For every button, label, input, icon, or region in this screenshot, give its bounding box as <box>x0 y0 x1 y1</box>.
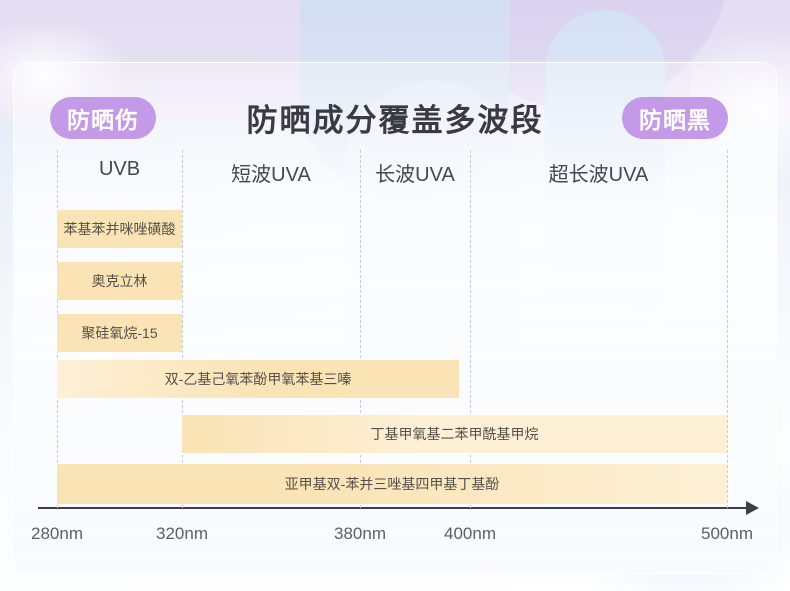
band-header-label: 长波UVA <box>375 164 455 186</box>
ingredient-bar: 丁基甲氧基二苯甲酰基甲烷 <box>182 415 727 453</box>
ingredient-bar-label: 双-乙基己氧苯酚甲氧苯基三嗪 <box>165 369 352 389</box>
ingredient-bar: 亚甲基双-苯并三唑基四甲基丁基酚 <box>57 464 727 504</box>
ingredient-bar-label: 亚甲基双-苯并三唑基四甲基丁基酚 <box>285 474 500 494</box>
band-header-3: 超长波UVA <box>470 158 727 187</box>
x-axis-arrow-icon <box>746 501 759 515</box>
spectrum-chart: UVB短波UVA长波UVA超长波UVA苯基苯并咪唑磺酸奥克立林聚硅氧烷-15双-… <box>0 0 790 591</box>
x-axis-line <box>38 507 748 509</box>
x-tick-label: 400nm <box>420 524 520 544</box>
gridline-320nm <box>182 150 183 508</box>
ingredient-bar: 奥克立林 <box>57 262 182 300</box>
band-header-label: 超长波UVA <box>549 164 649 186</box>
band-header-1: 短波UVA <box>182 158 360 187</box>
band-header-2: 长波UVA <box>360 158 470 187</box>
infographic-root: 防晒伤 防晒成分覆盖多波段 防晒黑 UVB短波UVA长波UVA超长波UVA苯基苯… <box>0 0 790 591</box>
gridline-380nm <box>360 150 361 508</box>
ingredient-bar-label: 苯基苯并咪唑磺酸 <box>64 219 176 239</box>
ingredient-bar-label: 丁基甲氧基二苯甲酰基甲烷 <box>371 424 539 444</box>
ingredient-bar: 聚硅氧烷-15 <box>57 314 182 352</box>
ingredient-bar: 苯基苯并咪唑磺酸 <box>57 210 182 248</box>
x-tick-label: 500nm <box>677 524 777 544</box>
x-tick-label: 280nm <box>7 524 107 544</box>
gridline-400nm <box>470 150 471 508</box>
band-header-label: UVB <box>99 158 140 180</box>
gridline-500nm <box>727 150 728 508</box>
ingredient-bar: 双-乙基己氧苯酚甲氧苯基三嗪 <box>57 360 459 398</box>
ingredient-bar-label: 奥克立林 <box>92 271 148 291</box>
x-tick-label: 320nm <box>132 524 232 544</box>
x-tick-label: 380nm <box>310 524 410 544</box>
band-header-0: UVB <box>57 158 182 181</box>
ingredient-bar-label: 聚硅氧烷-15 <box>81 323 157 343</box>
band-header-label: 短波UVA <box>231 164 311 186</box>
